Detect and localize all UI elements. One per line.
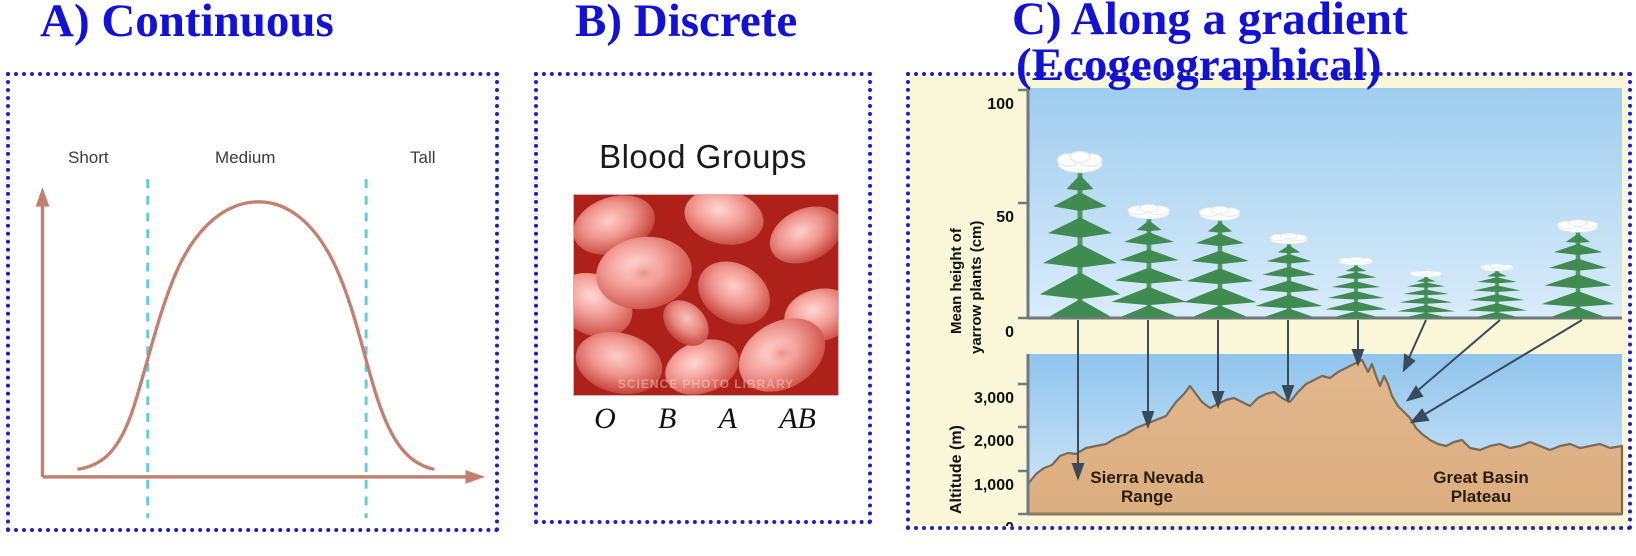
bottom-tick-0: 0 <box>932 520 1014 526</box>
panel-a-continuous: Short Medium Tall <box>6 72 499 532</box>
figure-root: A) Continuous B) Discrete C) Along a gra… <box>0 0 1636 556</box>
blood-cells-illustration <box>574 195 838 395</box>
panel-c-title-line1: C) Along a gradient <box>1012 0 1408 42</box>
panel-c-title-line2: (Ecogeographical) <box>1016 42 1382 88</box>
landmark-great-basin-line1: Great Basin <box>1388 468 1574 487</box>
blood-group-b: B <box>658 402 676 436</box>
panel-c-content: Mean height of yarrow plants (cm) Altitu… <box>910 76 1628 526</box>
label-tall: Tall <box>410 148 436 168</box>
landmark-great-basin-line2: Plateau <box>1388 487 1574 506</box>
x-axis-arrow <box>42 470 485 484</box>
blood-group-ab: AB <box>779 402 816 436</box>
landmark-sierra-nevada-line1: Sierra Nevada <box>1042 468 1252 487</box>
blood-group-a: A <box>719 402 737 436</box>
continuous-distribution-chart <box>10 76 495 528</box>
bottom-tick-1000: 1,000 <box>932 477 1014 495</box>
bell-curve <box>79 202 433 469</box>
top-tick-50: 50 <box>968 209 1014 227</box>
panel-a-title: A) Continuous <box>40 0 334 44</box>
label-short: Short <box>68 148 109 168</box>
landmark-sierra-nevada-line2: Range <box>1042 487 1252 506</box>
red-blood-cells-image: SCIENCE PHOTO LIBRARY <box>573 194 839 396</box>
landmark-great-basin: Great Basin Plateau <box>1388 468 1574 506</box>
panel-b-title: B) Discrete <box>575 0 797 44</box>
top-tick-0: 0 <box>968 324 1014 342</box>
panel-b-content: Blood Groups <box>538 76 868 520</box>
blood-groups-caption: Blood Groups <box>538 138 868 176</box>
top-chart-ylabel-line1: Mean height of <box>948 228 965 334</box>
y-axis-arrow <box>36 187 50 477</box>
landmark-sierra-nevada: Sierra Nevada Range <box>1042 468 1252 506</box>
panel-b-discrete: Blood Groups <box>534 72 872 524</box>
blood-group-labels: O B A AB <box>573 402 837 436</box>
ecogeographical-gradient-chart <box>910 76 1628 526</box>
blood-group-o: O <box>594 402 616 436</box>
top-tick-100: 100 <box>968 96 1014 114</box>
top-chart-sky <box>1028 88 1622 318</box>
panel-c-gradient: Mean height of yarrow plants (cm) Altitu… <box>906 72 1632 530</box>
label-medium: Medium <box>215 148 275 168</box>
bottom-tick-3000: 3,000 <box>932 390 1014 408</box>
bottom-tick-2000: 2,000 <box>932 433 1014 451</box>
